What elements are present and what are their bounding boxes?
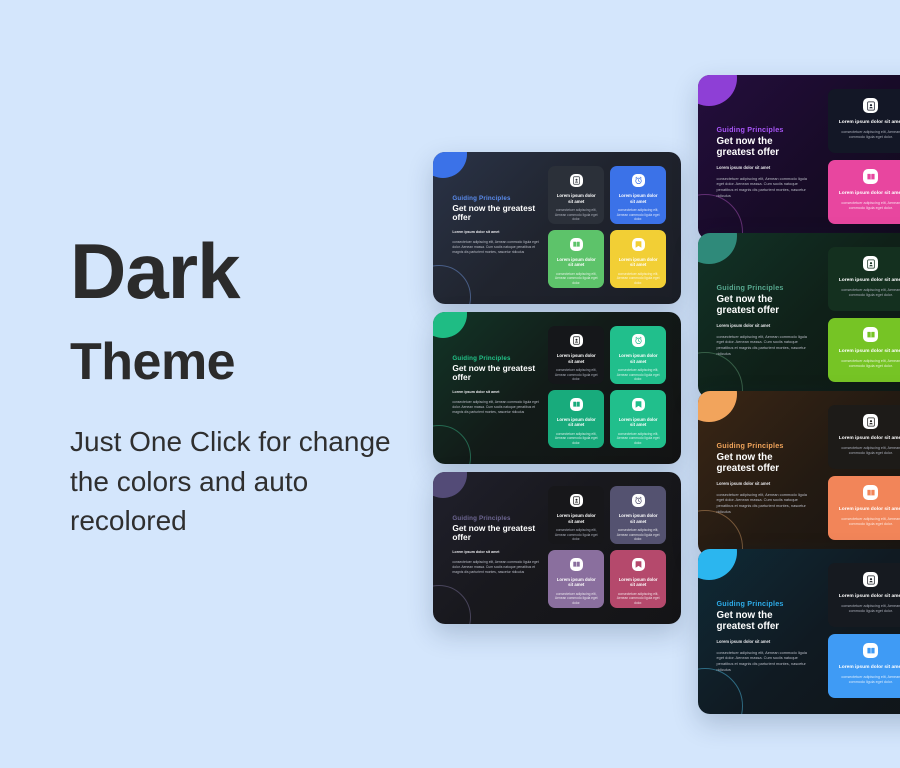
slide-eyebrow: Guiding Principles xyxy=(717,441,812,450)
user-badge-icon xyxy=(863,414,878,429)
alarm-clock-icon xyxy=(632,334,645,347)
feature-tile-body: consectetuer adipiscing elit, Aenean com… xyxy=(616,272,660,286)
feature-tile-grid: Lorem ipsum dolor sit ametconsectetuer a… xyxy=(548,326,666,448)
slide-cyan[interactable]: Guiding PrinciplesGet now the greatest o… xyxy=(698,549,900,714)
feature-tile-title: Lorem ipsum dolor sit amet xyxy=(554,577,598,587)
promo-block: Dark Theme Just One Click for change the… xyxy=(70,236,420,541)
feature-tile-body: consectetuer adipiscing elit, Aenean com… xyxy=(616,592,660,606)
feature-tile[interactable]: Lorem ipsum dolor sit ametconsectetuer a… xyxy=(610,550,666,608)
slide-amber[interactable]: Guiding PrinciplesGet now the greatest o… xyxy=(698,391,900,556)
slide-eyebrow: Guiding Principles xyxy=(717,283,812,292)
feature-tile-body: consectetuer adipiscing elit, Aenean com… xyxy=(835,517,900,528)
slide-blue[interactable]: Guiding PrinciplesGet now the greatest o… xyxy=(433,152,681,304)
decorative-outline-ring xyxy=(698,668,743,714)
slide-copy-block: Guiding PrinciplesGet now the greatest o… xyxy=(717,599,812,673)
feature-tile[interactable]: Lorem ipsum dolor sit ametconsectetuer a… xyxy=(610,230,666,288)
feature-tile[interactable]: Lorem ipsum dolor sit ametconsectetuer a… xyxy=(548,550,604,608)
feature-tile[interactable]: Lorem ipsum dolor sit ametconsectetuer a… xyxy=(828,634,900,698)
slide-lead-text: Lorem ipsum dolor sit amet xyxy=(717,323,812,328)
slide-copy-block: Guiding PrinciplesGet now the greatest o… xyxy=(717,125,812,199)
feature-tile-body: consectetuer adipiscing elit, Aenean com… xyxy=(554,432,598,446)
slide-body-text: consectetuer adipiscing elit, Aenean com… xyxy=(452,560,541,575)
feature-tile[interactable]: Lorem ipsum dolor sit ametconsectetuer a… xyxy=(828,247,900,311)
slide-copy-block: Guiding PrinciplesGet now the greatest o… xyxy=(452,355,541,415)
open-book-icon xyxy=(863,485,878,500)
open-book-icon xyxy=(570,398,583,411)
feature-tile[interactable]: Lorem ipsum dolor sit ametconsectetuer a… xyxy=(828,476,900,540)
open-book-icon xyxy=(863,327,878,342)
slide-lead-text: Lorem ipsum dolor sit amet xyxy=(452,230,541,234)
feature-tile-title: Lorem ipsum dolor sit amet xyxy=(554,193,598,203)
slide-headline: Get now the greatest offer xyxy=(717,452,812,475)
feature-tile[interactable]: Lorem ipsum dolor sit ametconsectetuer a… xyxy=(828,318,900,382)
open-book-icon xyxy=(570,558,583,571)
feature-tile-title: Lorem ipsum dolor sit amet xyxy=(839,507,900,513)
feature-tile-title: Lorem ipsum dolor sit amet xyxy=(839,665,900,671)
promo-title-theme: Theme xyxy=(70,336,420,388)
bookmark-icon xyxy=(632,558,645,571)
decorative-outline-ring xyxy=(433,265,471,304)
feature-tile-body: consectetuer adipiscing elit, Aenean com… xyxy=(554,208,598,222)
promo-subtitle: Just One Click for change the colors and… xyxy=(70,422,420,541)
user-badge-icon xyxy=(570,494,583,507)
decorative-corner-disc xyxy=(433,312,467,338)
feature-tile-title: Lorem ipsum dolor sit amet xyxy=(839,191,900,197)
user-badge-icon xyxy=(570,334,583,347)
slide-forest[interactable]: Guiding PrinciplesGet now the greatest o… xyxy=(698,233,900,398)
feature-tile-title: Lorem ipsum dolor sit amet xyxy=(839,349,900,355)
feature-tile-title: Lorem ipsum dolor sit amet xyxy=(616,353,660,363)
feature-tile-body: consectetuer adipiscing elit, Aenean com… xyxy=(554,272,598,286)
slide-headline: Get now the greatest offer xyxy=(452,524,541,544)
feature-tile-body: consectetuer adipiscing elit, Aenean com… xyxy=(616,368,660,382)
feature-tile-grid: Lorem ipsum dolor sit ametconsectetuer a… xyxy=(548,486,666,608)
feature-tile-title: Lorem ipsum dolor sit amet xyxy=(616,257,660,267)
slide-body-text: consectetuer adipiscing elit, Aenean com… xyxy=(717,334,812,357)
decorative-outline-ring xyxy=(433,585,471,624)
open-book-icon xyxy=(863,169,878,184)
feature-tile[interactable]: Lorem ipsum dolor sit ametconsectetuer a… xyxy=(610,166,666,224)
feature-tile-body: consectetuer adipiscing elit, Aenean com… xyxy=(835,675,900,686)
feature-tile[interactable]: Lorem ipsum dolor sit ametconsectetuer a… xyxy=(828,89,900,153)
slide-copy-block: Guiding PrinciplesGet now the greatest o… xyxy=(717,283,812,357)
decorative-corner-disc xyxy=(433,472,467,498)
feature-tile-title: Lorem ipsum dolor sit amet xyxy=(616,193,660,203)
slide-copy-block: Guiding PrinciplesGet now the greatest o… xyxy=(452,195,541,255)
feature-tile-body: consectetuer adipiscing elit, Aenean com… xyxy=(835,201,900,212)
feature-tile-grid: Lorem ipsum dolor sit ametconsectetuer a… xyxy=(548,166,666,288)
decorative-corner-disc xyxy=(698,75,737,106)
feature-tile-body: consectetuer adipiscing elit, Aenean com… xyxy=(835,359,900,370)
feature-tile[interactable]: Lorem ipsum dolor sit ametconsectetuer a… xyxy=(548,230,604,288)
feature-tile[interactable]: Lorem ipsum dolor sit ametconsectetuer a… xyxy=(548,166,604,224)
feature-tile-title: Lorem ipsum dolor sit amet xyxy=(616,577,660,587)
feature-tile-body: consectetuer adipiscing elit, Aenean com… xyxy=(616,528,660,542)
slide-headline: Get now the greatest offer xyxy=(717,610,812,633)
feature-tile-title: Lorem ipsum dolor sit amet xyxy=(616,513,660,523)
slide-headline: Get now the greatest offer xyxy=(717,294,812,317)
decorative-corner-disc xyxy=(698,233,737,264)
feature-tile-title: Lorem ipsum dolor sit amet xyxy=(839,436,900,442)
feature-tile[interactable]: Lorem ipsum dolor sit ametconsectetuer a… xyxy=(548,326,604,384)
slide-eyebrow: Guiding Principles xyxy=(717,125,812,134)
feature-tile-grid: Lorem ipsum dolor sit ametconsectetuer a… xyxy=(828,89,900,224)
feature-tile-body: consectetuer adipiscing elit, Aenean com… xyxy=(835,446,900,457)
promo-title-dark: Dark xyxy=(70,236,420,308)
slide-lead-text: Lorem ipsum dolor sit amet xyxy=(452,550,541,554)
user-badge-icon xyxy=(570,174,583,187)
slide-copy-block: Guiding PrinciplesGet now the greatest o… xyxy=(717,441,812,515)
slide-lead-text: Lorem ipsum dolor sit amet xyxy=(717,481,812,486)
feature-tile-body: consectetuer adipiscing elit, Aenean com… xyxy=(616,432,660,446)
feature-tile-body: consectetuer adipiscing elit, Aenean com… xyxy=(835,288,900,299)
feature-tile[interactable]: Lorem ipsum dolor sit ametconsectetuer a… xyxy=(610,390,666,448)
slide-headline: Get now the greatest offer xyxy=(452,204,541,224)
slide-eyebrow: Guiding Principles xyxy=(452,355,541,362)
slide-body-text: consectetuer adipiscing elit, Aenean com… xyxy=(452,400,541,415)
feature-tile-title: Lorem ipsum dolor sit amet xyxy=(554,257,598,267)
feature-tile-grid: Lorem ipsum dolor sit ametconsectetuer a… xyxy=(828,247,900,382)
feature-tile-title: Lorem ipsum dolor sit amet xyxy=(616,417,660,427)
open-book-icon xyxy=(570,238,583,251)
slide-headline: Get now the greatest offer xyxy=(717,136,812,159)
decorative-outline-ring xyxy=(433,425,471,464)
feature-tile-title: Lorem ipsum dolor sit amet xyxy=(839,278,900,284)
feature-tile-title: Lorem ipsum dolor sit amet xyxy=(839,594,900,600)
slide-violet[interactable]: Guiding PrinciplesGet now the greatest o… xyxy=(698,75,900,240)
user-badge-icon xyxy=(863,98,878,113)
feature-tile-title: Lorem ipsum dolor sit amet xyxy=(554,417,598,427)
slide-lead-text: Lorem ipsum dolor sit amet xyxy=(452,390,541,394)
feature-tile-body: consectetuer adipiscing elit, Aenean com… xyxy=(835,130,900,141)
slide-plum[interactable]: Guiding PrinciplesGet now the greatest o… xyxy=(433,472,681,624)
feature-tile[interactable]: Lorem ipsum dolor sit ametconsectetuer a… xyxy=(610,326,666,384)
feature-tile[interactable]: Lorem ipsum dolor sit ametconsectetuer a… xyxy=(610,486,666,544)
user-badge-icon xyxy=(863,572,878,587)
slide-lead-text: Lorem ipsum dolor sit amet xyxy=(717,165,812,170)
feature-tile[interactable]: Lorem ipsum dolor sit ametconsectetuer a… xyxy=(548,390,604,448)
feature-tile-title: Lorem ipsum dolor sit amet xyxy=(839,120,900,126)
alarm-clock-icon xyxy=(632,174,645,187)
feature-tile-body: consectetuer adipiscing elit, Aenean com… xyxy=(616,208,660,222)
slide-eyebrow: Guiding Principles xyxy=(717,599,812,608)
feature-tile[interactable]: Lorem ipsum dolor sit ametconsectetuer a… xyxy=(548,486,604,544)
slide-body-text: consectetuer adipiscing elit, Aenean com… xyxy=(452,240,541,255)
feature-tile-title: Lorem ipsum dolor sit amet xyxy=(554,513,598,523)
feature-tile-body: consectetuer adipiscing elit, Aenean com… xyxy=(835,604,900,615)
bookmark-icon xyxy=(632,238,645,251)
feature-tile[interactable]: Lorem ipsum dolor sit ametconsectetuer a… xyxy=(828,160,900,224)
slide-body-text: consectetuer adipiscing elit, Aenean com… xyxy=(717,176,812,199)
slide-copy-block: Guiding PrinciplesGet now the greatest o… xyxy=(452,515,541,575)
feature-tile[interactable]: Lorem ipsum dolor sit ametconsectetuer a… xyxy=(828,405,900,469)
decorative-corner-disc xyxy=(698,549,737,580)
feature-tile-body: consectetuer adipiscing elit, Aenean com… xyxy=(554,368,598,382)
open-book-icon xyxy=(863,643,878,658)
alarm-clock-icon xyxy=(632,494,645,507)
feature-tile-body: consectetuer adipiscing elit, Aenean com… xyxy=(554,592,598,606)
feature-tile[interactable]: Lorem ipsum dolor sit ametconsectetuer a… xyxy=(828,563,900,627)
slide-body-text: consectetuer adipiscing elit, Aenean com… xyxy=(717,492,812,515)
bookmark-icon xyxy=(632,398,645,411)
feature-tile-title: Lorem ipsum dolor sit amet xyxy=(554,353,598,363)
slide-eyebrow: Guiding Principles xyxy=(452,195,541,202)
slide-lead-text: Lorem ipsum dolor sit amet xyxy=(717,639,812,644)
slide-eyebrow: Guiding Principles xyxy=(452,515,541,522)
feature-tile-body: consectetuer adipiscing elit, Aenean com… xyxy=(554,528,598,542)
feature-tile-grid: Lorem ipsum dolor sit ametconsectetuer a… xyxy=(828,405,900,540)
slide-emerald[interactable]: Guiding PrinciplesGet now the greatest o… xyxy=(433,312,681,464)
decorative-corner-disc xyxy=(433,152,467,178)
slide-headline: Get now the greatest offer xyxy=(452,364,541,384)
user-badge-icon xyxy=(863,256,878,271)
slide-body-text: consectetuer adipiscing elit, Aenean com… xyxy=(717,650,812,673)
decorative-corner-disc xyxy=(698,391,737,422)
feature-tile-grid: Lorem ipsum dolor sit ametconsectetuer a… xyxy=(828,563,900,698)
